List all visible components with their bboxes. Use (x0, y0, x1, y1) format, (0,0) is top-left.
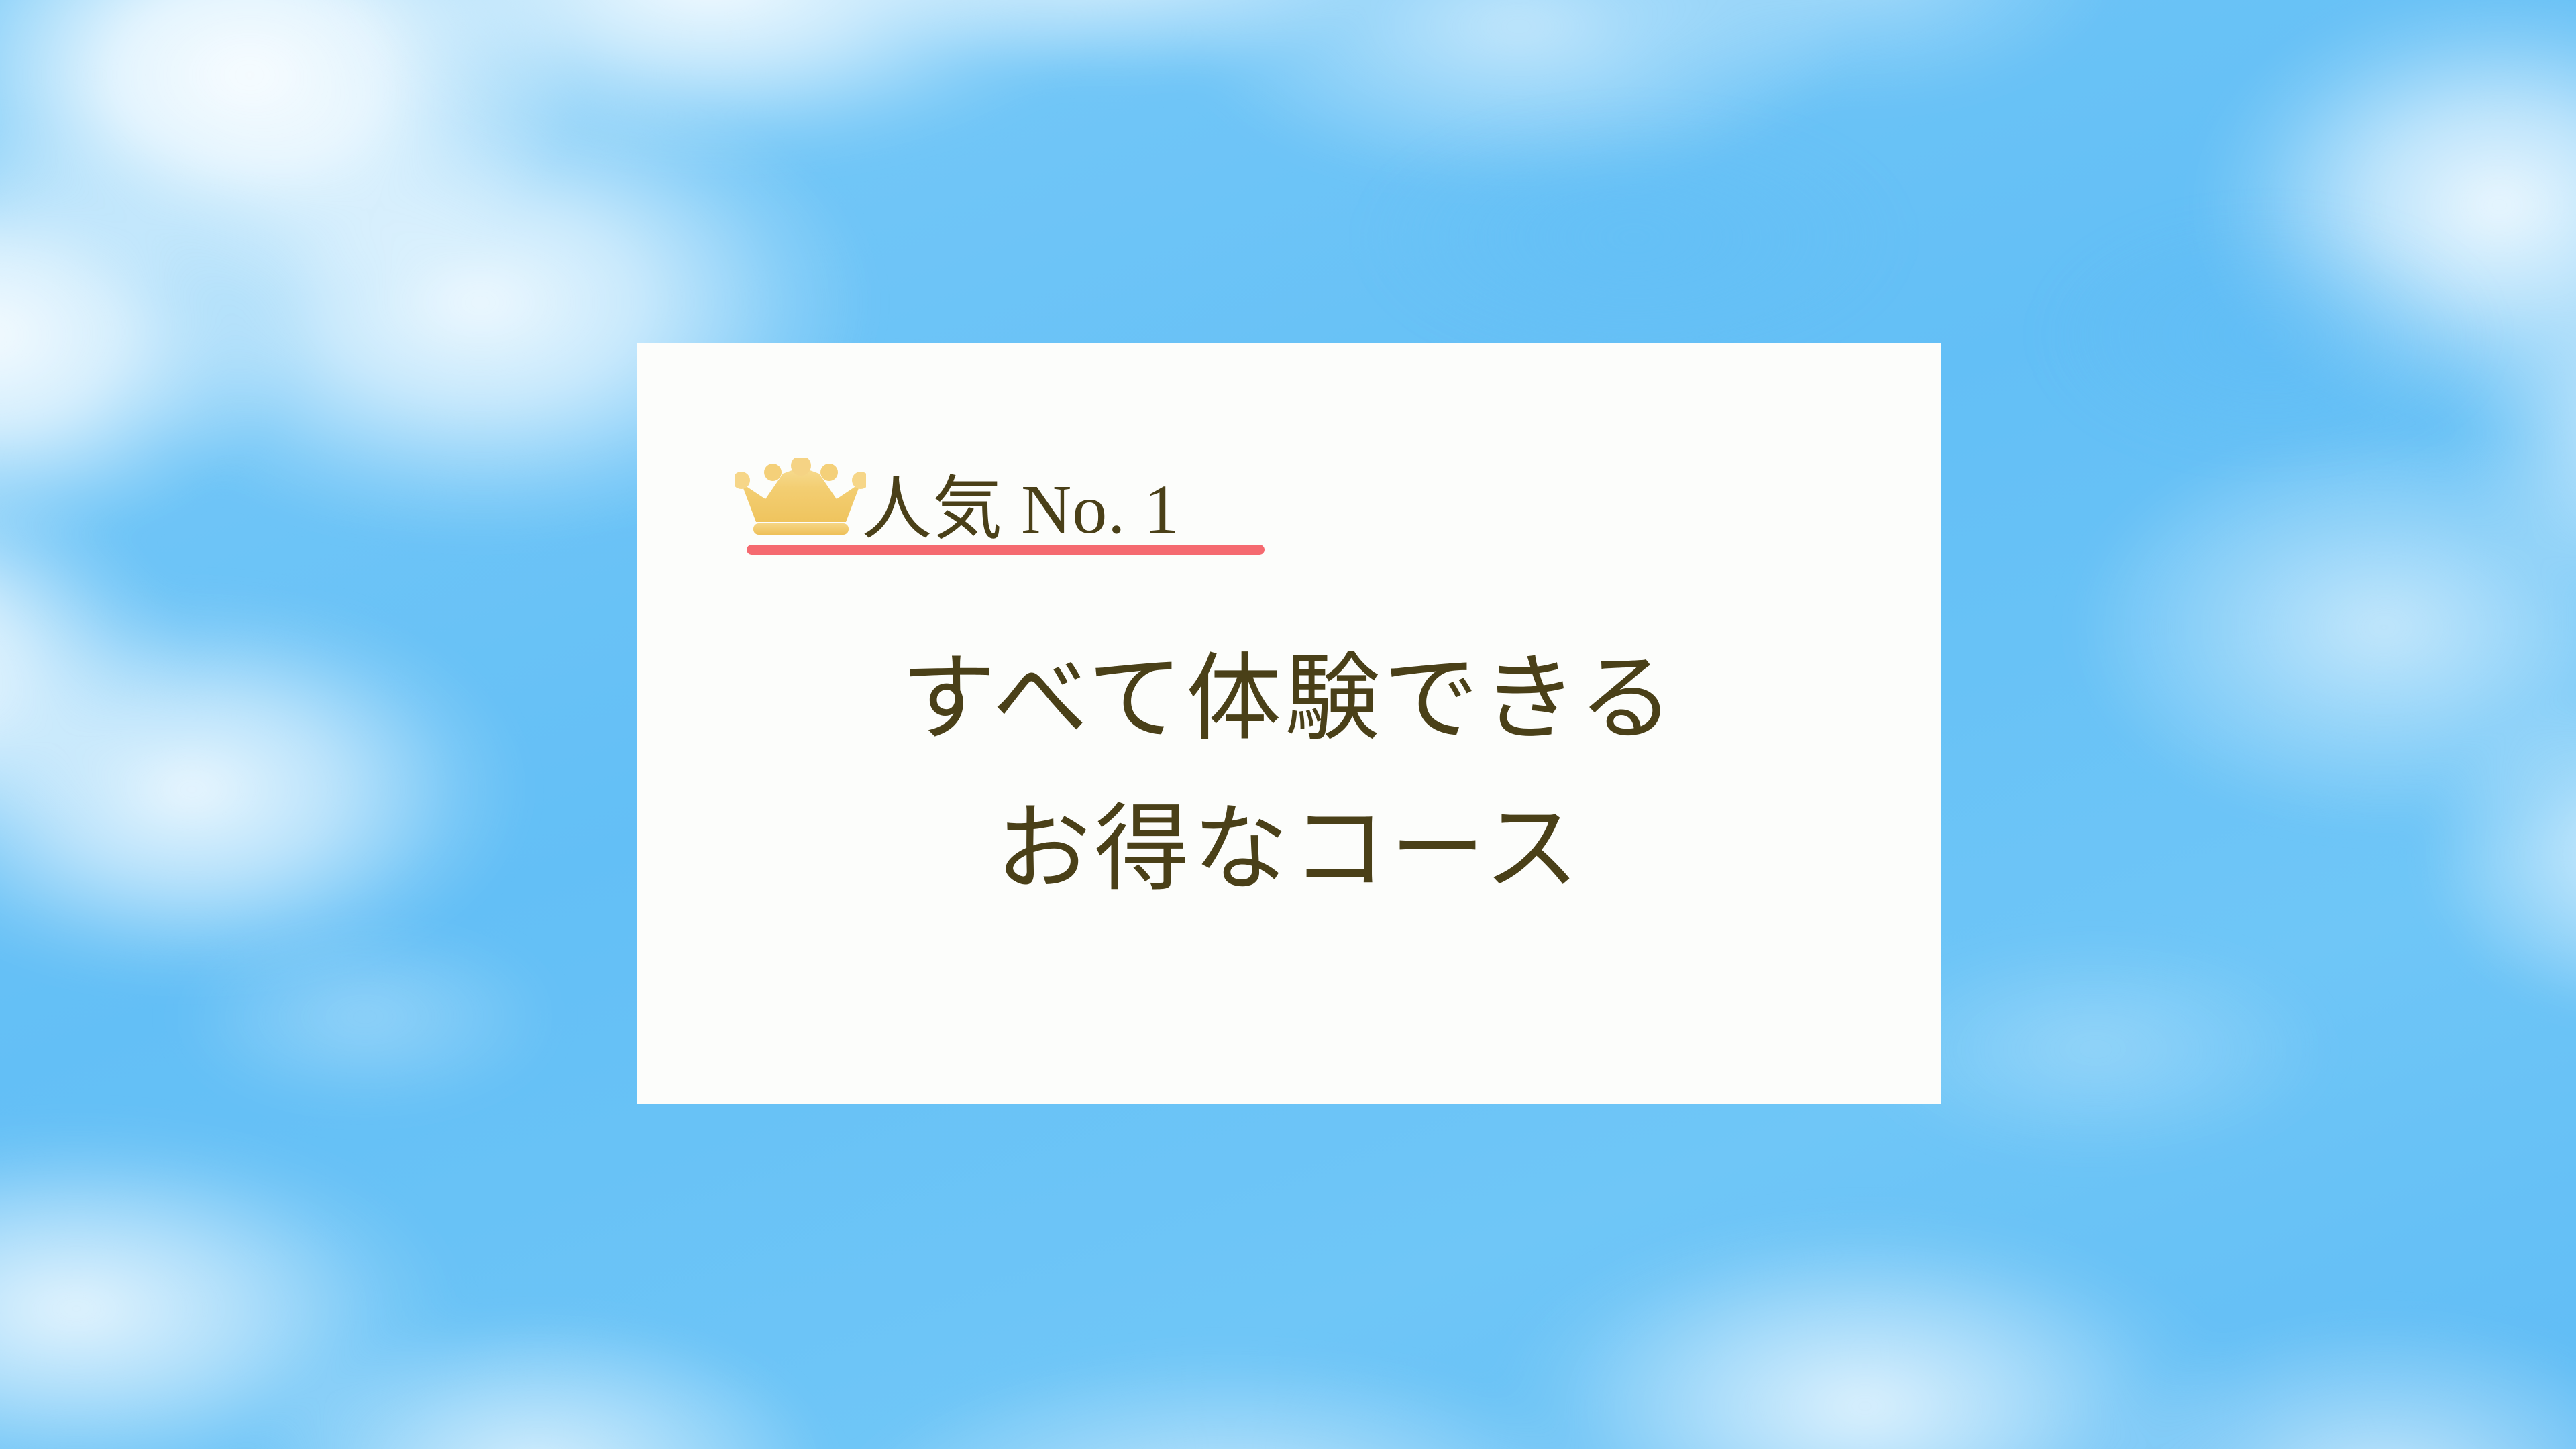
headline: すべて体験できる お得なコース (637, 624, 1941, 925)
popularity-badge-label: 人気 No. 1 (862, 475, 1179, 545)
crown-icon (735, 458, 862, 541)
headline-line-1: すべて体験できる (637, 624, 1941, 774)
badge-underline (747, 545, 1265, 555)
popularity-badge: 人気 No. 1 (735, 458, 1179, 541)
content-card: 人気 No. 1 すべて体験できる お得なコース (637, 343, 1941, 1104)
headline-line-2: お得なコース (637, 774, 1941, 924)
slide-canvas: 人気 No. 1 すべて体験できる お得なコース (0, 0, 2576, 1449)
